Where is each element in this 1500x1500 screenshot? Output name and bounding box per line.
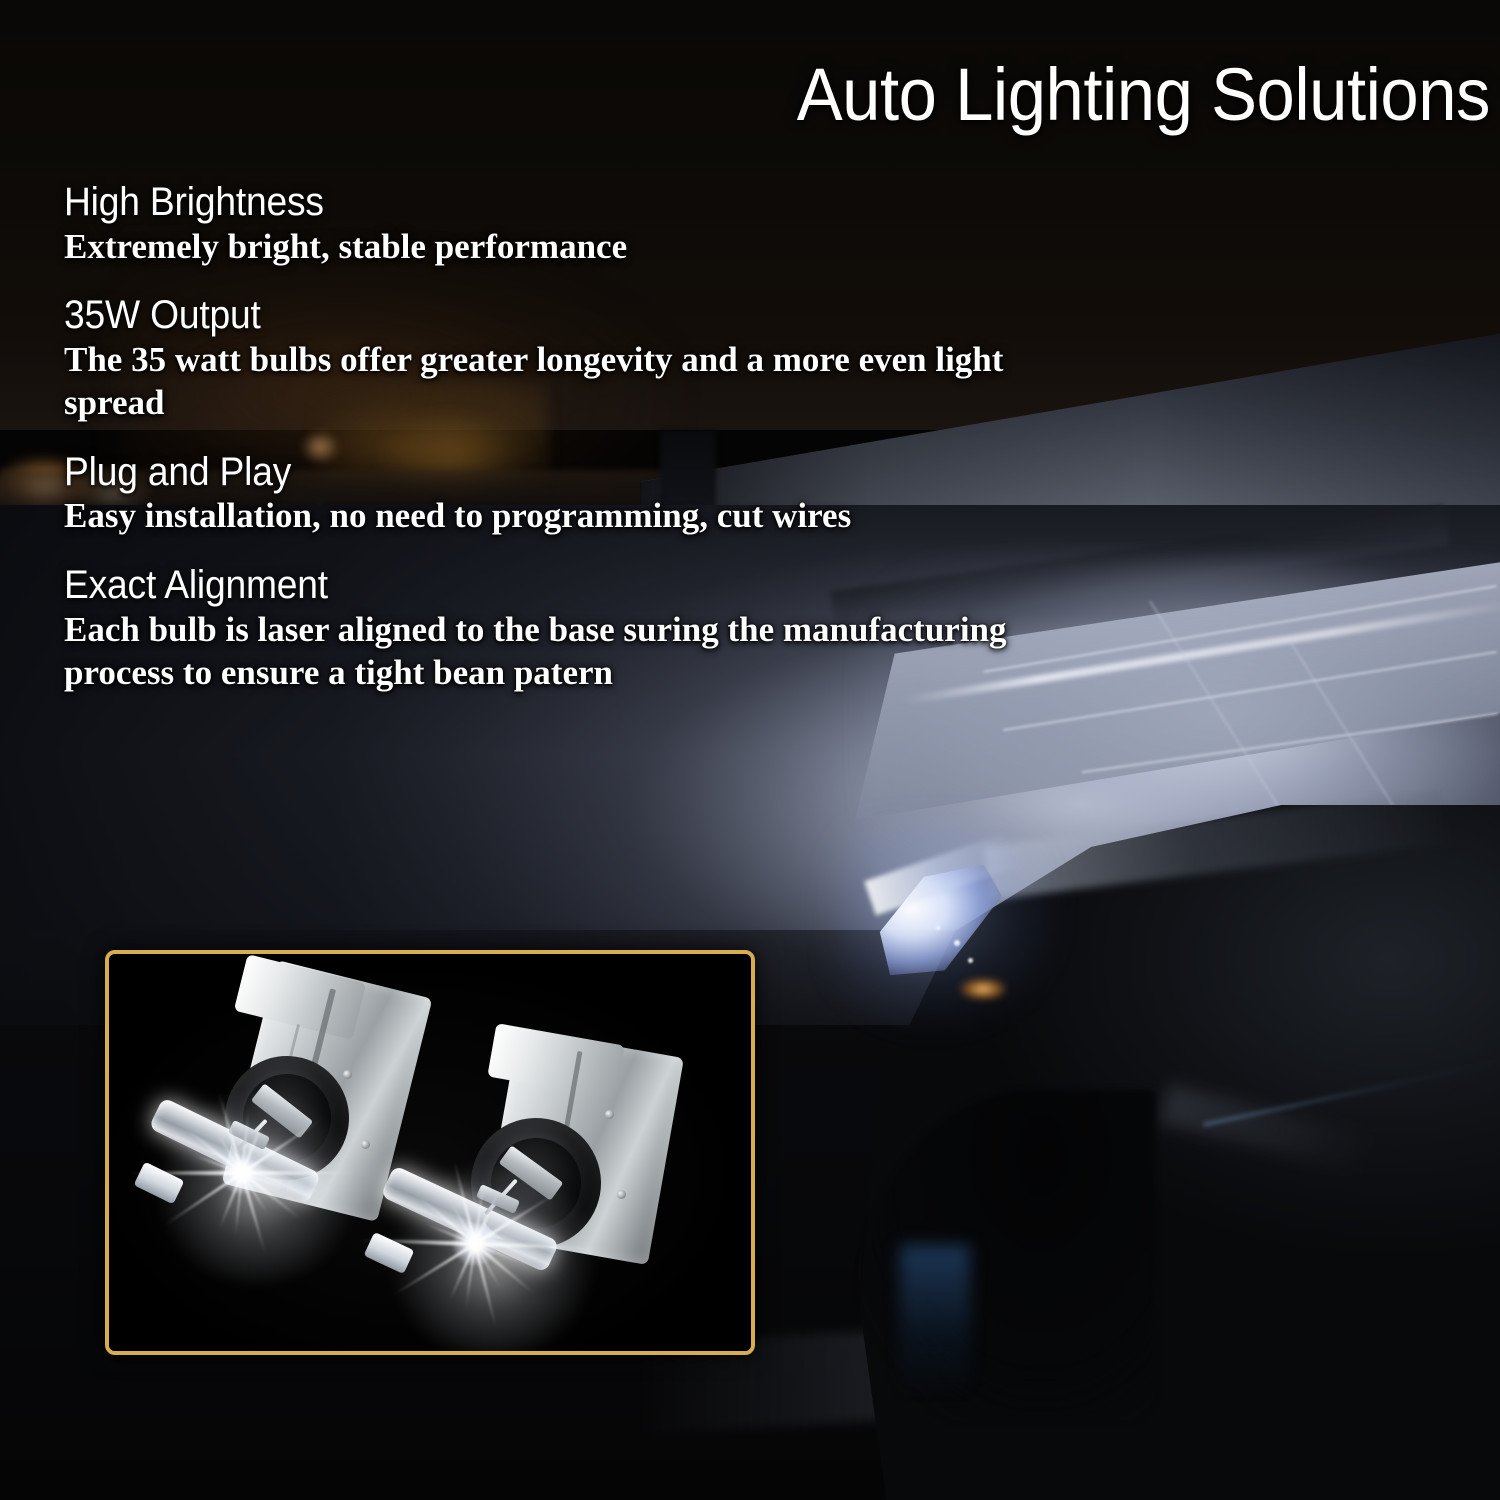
page-title: Auto Lighting Solutions (718, 58, 1490, 132)
bulb-light-halo (151, 1094, 361, 1284)
hid-xenon-bulb-right (349, 1032, 719, 1352)
feature-description: Easy installation, no need to programmin… (64, 495, 1064, 538)
promo-image-root: Auto Lighting Solutions High Brightness … (0, 0, 1500, 1500)
feature-description: Each bulb is laser aligned to the base s… (64, 609, 1064, 694)
lens-sparkle-2 (968, 958, 973, 963)
feature-description: The 35 watt bulbs offer greater longevit… (64, 339, 1064, 424)
feature-heading: 35W Output (64, 293, 1013, 338)
product-inset-panel (105, 950, 755, 1355)
feature-heading: Exact Alignment (64, 563, 1013, 608)
feature-description: Extremely bright, stable performance (64, 226, 1064, 269)
feature-heading: High Brightness (64, 180, 1013, 225)
feature-item-35w-output: 35W Output The 35 watt bulbs offer great… (64, 293, 1084, 424)
feature-heading: Plug and Play (64, 450, 1013, 495)
turn-signal-reflection (960, 978, 1006, 1000)
bulb-shield-cap (234, 954, 366, 1040)
feature-item-exact-alignment: Exact Alignment Each bulb is laser align… (64, 563, 1084, 694)
feature-list: High Brightness Extremely bright, stable… (64, 180, 1084, 694)
bulb-shield-screw-lower (617, 1190, 626, 1199)
lens-sparkle-1 (954, 940, 960, 946)
feature-item-plug-and-play: Plug and Play Easy installation, no need… (64, 450, 1084, 538)
bulb-shield-screw-upper (605, 1110, 614, 1119)
lens-sparkle-3 (936, 926, 940, 930)
wheel-blue-reflection (900, 1245, 970, 1395)
feature-item-high-brightness: High Brightness Extremely bright, stable… (64, 180, 1084, 268)
